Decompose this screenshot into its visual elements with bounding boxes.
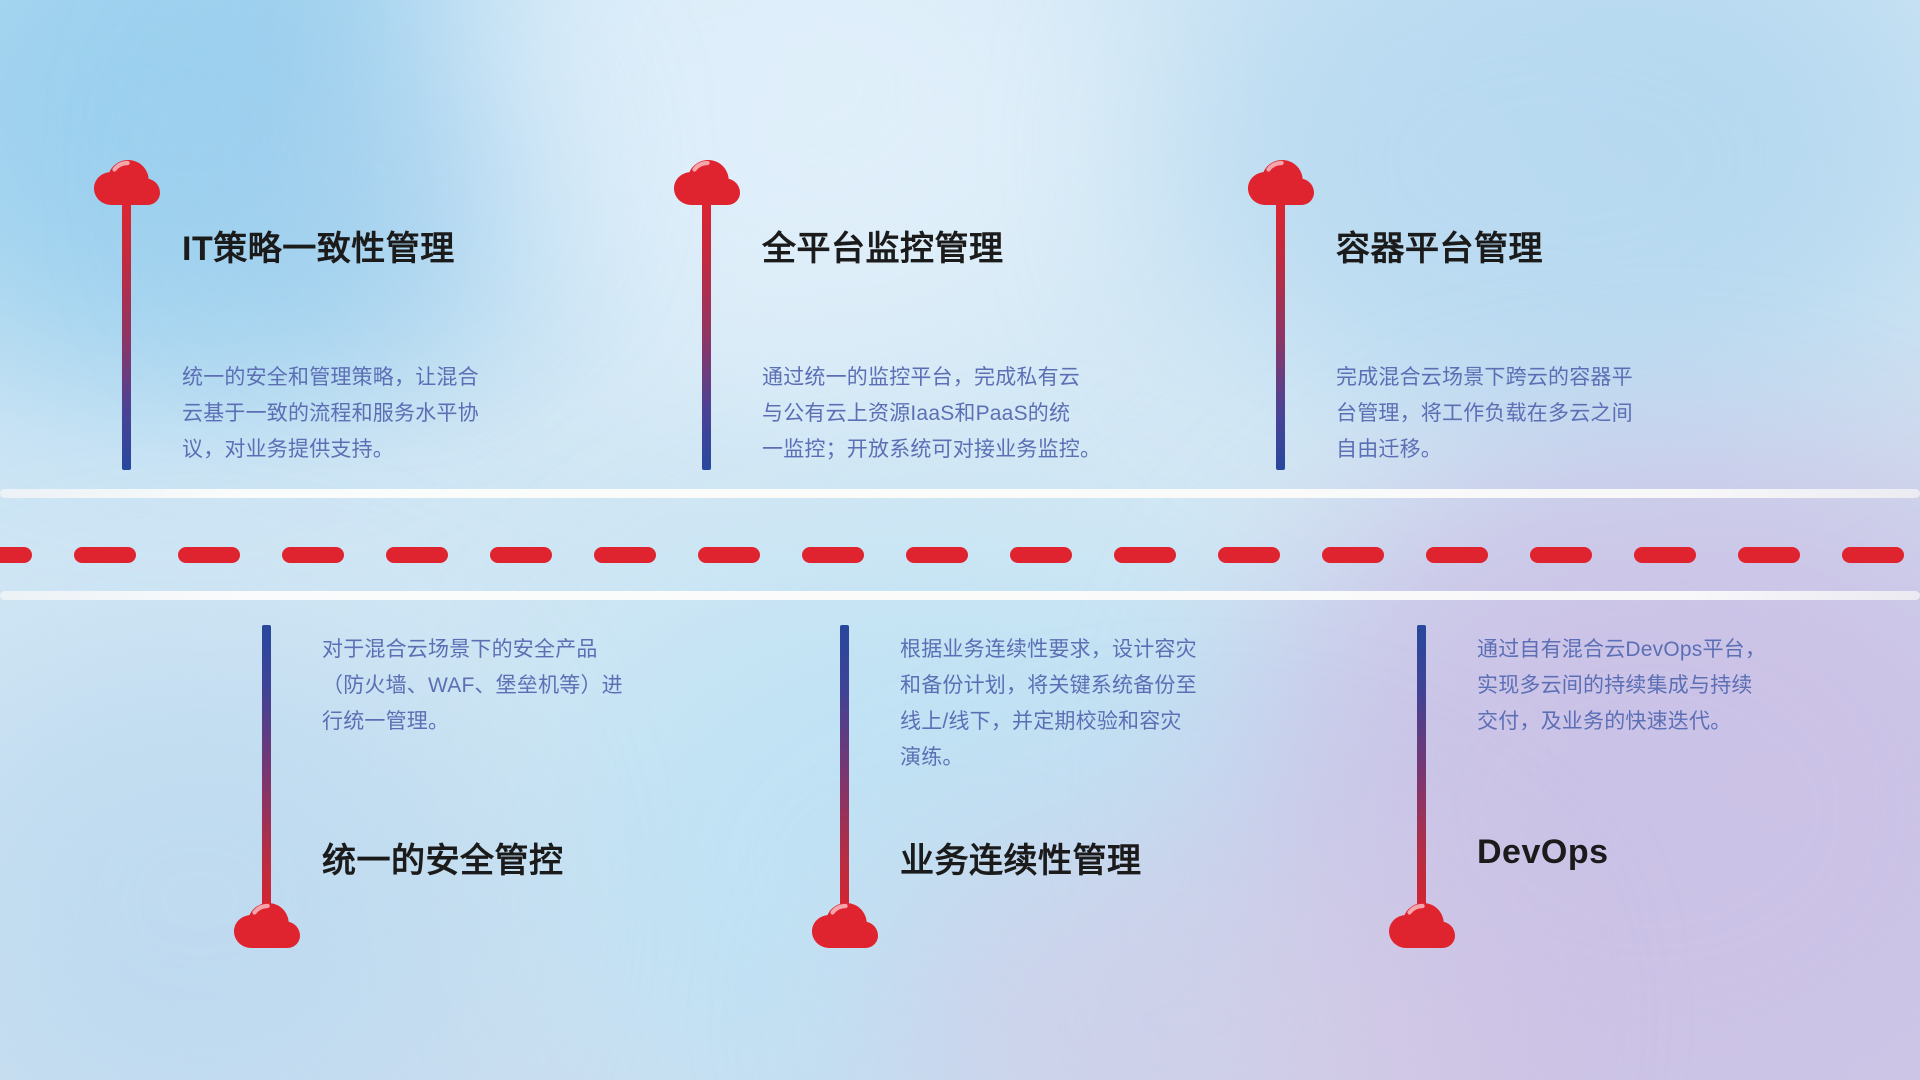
road-dash-segment xyxy=(1322,547,1384,563)
marker-pin-line xyxy=(702,196,711,470)
road-dash-segment xyxy=(1738,547,1800,563)
marker-pin-line xyxy=(840,625,849,915)
cloud-icon xyxy=(812,903,878,949)
marker-pin-line xyxy=(262,625,271,915)
road-dash-segment xyxy=(594,547,656,563)
road-dash-segment xyxy=(1426,547,1488,563)
background-blob xyxy=(420,0,1120,360)
body-line: 实现多云间的持续集成与持续 xyxy=(1477,668,1766,704)
body-line: 自由迁移。 xyxy=(1336,432,1633,468)
road-dash-segment xyxy=(1530,547,1592,563)
body-line: 一监控；开放系统可对接业务监控。 xyxy=(762,432,1101,468)
road-dash-segment xyxy=(1114,547,1176,563)
road-dash-segment xyxy=(282,547,344,563)
road-dash-segment xyxy=(0,547,32,563)
bottom-body-2: 根据业务连续性要求，设计容灾 和备份计划，将关键系统备份至 线上/线下，并定期校… xyxy=(900,632,1197,776)
body-line: 统一的安全和管理策略，让混合 xyxy=(182,360,479,396)
cloud-icon xyxy=(234,903,300,949)
body-line: 与公有云上资源IaaS和PaaS的统 xyxy=(762,396,1101,432)
body-line: 议，对业务提供支持。 xyxy=(182,432,479,468)
marker-pin-line xyxy=(1417,625,1426,915)
infographic-canvas: IT策略一致性管理 统一的安全和管理策略，让混合 云基于一致的流程和服务水平协 … xyxy=(0,0,1920,1080)
marker-pin-line xyxy=(122,196,131,470)
road-dash-segment xyxy=(490,547,552,563)
road-line-lower xyxy=(0,591,1920,600)
body-line: 完成混合云场景下跨云的容器平 xyxy=(1336,360,1633,396)
top-heading-1: IT策略一致性管理 xyxy=(182,221,455,270)
body-line: 线上/线下，并定期校验和容灾 xyxy=(900,704,1197,740)
road-dash-segment xyxy=(74,547,136,563)
bottom-body-1: 对于混合云场景下的安全产品 （防火墙、WAF、堡垒机等）进 行统一管理。 xyxy=(322,632,623,740)
body-line: 交付，及业务的快速迭代。 xyxy=(1477,704,1766,740)
top-heading-3: 容器平台管理 xyxy=(1336,221,1543,270)
road-center-dashes xyxy=(0,547,1920,563)
body-line: 演练。 xyxy=(900,740,1197,776)
bottom-heading-1: 统一的安全管控 xyxy=(322,833,564,882)
bottom-heading-3: DevOps xyxy=(1477,833,1609,872)
bottom-heading-2: 业务连续性管理 xyxy=(900,833,1142,882)
body-line: 根据业务连续性要求，设计容灾 xyxy=(900,632,1197,668)
road-dash-segment xyxy=(906,547,968,563)
road-dash-segment xyxy=(802,547,864,563)
top-body-2: 通过统一的监控平台，完成私有云 与公有云上资源IaaS和PaaS的统 一监控；开… xyxy=(762,360,1101,468)
road-dash-segment xyxy=(1010,547,1072,563)
body-line: 台管理，将工作负载在多云之间 xyxy=(1336,396,1633,432)
marker-pin-line xyxy=(1276,196,1285,470)
body-line: （防火墙、WAF、堡垒机等）进 xyxy=(322,668,623,704)
body-line: 和备份计划，将关键系统备份至 xyxy=(900,668,1197,704)
road-line-upper xyxy=(0,489,1920,498)
road-dash-segment xyxy=(178,547,240,563)
body-line: 行统一管理。 xyxy=(322,704,623,740)
top-heading-2: 全平台监控管理 xyxy=(762,221,1004,270)
cloud-icon xyxy=(1389,903,1455,949)
body-line: 对于混合云场景下的安全产品 xyxy=(322,632,623,668)
road-dash-segment xyxy=(1634,547,1696,563)
road-dash-segment xyxy=(698,547,760,563)
body-line: 通过统一的监控平台，完成私有云 xyxy=(762,360,1101,396)
bottom-body-3: 通过自有混合云DevOps平台， 实现多云间的持续集成与持续 交付，及业务的快速… xyxy=(1477,632,1766,740)
background-blob xyxy=(0,0,500,380)
road-dash-segment xyxy=(1842,547,1904,563)
road-dash-segment xyxy=(386,547,448,563)
body-line: 云基于一致的流程和服务水平协 xyxy=(182,396,479,432)
body-line: 通过自有混合云DevOps平台， xyxy=(1477,632,1766,668)
top-body-1: 统一的安全和管理策略，让混合 云基于一致的流程和服务水平协 议，对业务提供支持。 xyxy=(182,360,479,468)
top-body-3: 完成混合云场景下跨云的容器平 台管理，将工作负载在多云之间 自由迁移。 xyxy=(1336,360,1633,468)
road-dash-segment xyxy=(1218,547,1280,563)
